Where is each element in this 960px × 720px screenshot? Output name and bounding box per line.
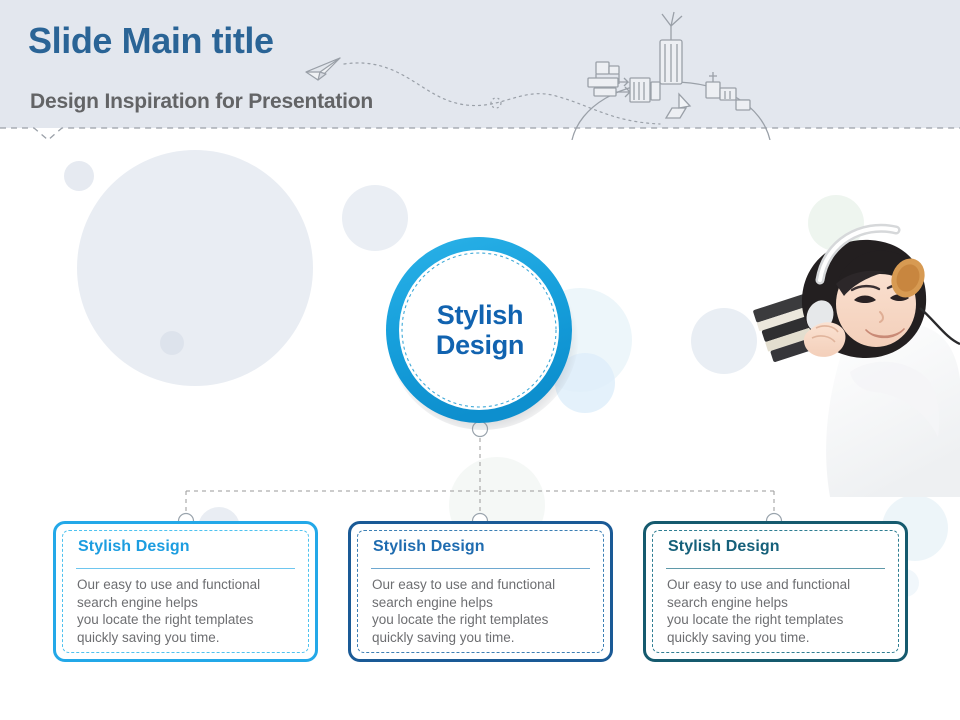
paper-plane-icon <box>306 58 340 80</box>
page-title: Slide Main title <box>28 20 274 62</box>
hub-label-line1: Stylish <box>437 300 523 330</box>
card-divider-3 <box>666 568 885 569</box>
info-card-1[interactable]: Stylish Design Our easy to use and funct… <box>53 521 318 662</box>
hub-label: Stylish Design <box>378 228 582 432</box>
card-divider-2 <box>371 568 590 569</box>
card-divider-1 <box>76 568 295 569</box>
card-body-2: Our easy to use and functional search en… <box>372 576 598 646</box>
city-globe-doodle <box>572 12 770 140</box>
card-body-3: Our easy to use and functional search en… <box>667 576 893 646</box>
card-title-3: Stylish Design <box>668 538 780 556</box>
info-card-2[interactable]: Stylish Design Our easy to use and funct… <box>348 521 613 662</box>
card-body-1: Our easy to use and functional search en… <box>77 576 303 646</box>
hub-label-line2: Design <box>436 330 524 360</box>
slide-header: Slide Main title Design Inspiration for … <box>0 0 960 128</box>
card-title-1: Stylish Design <box>78 538 190 556</box>
card-title-2: Stylish Design <box>373 538 485 556</box>
page-subtitle: Design Inspiration for Presentation <box>30 90 373 114</box>
central-hub[interactable]: Stylish Design <box>378 228 582 432</box>
girl-with-headphones-photo <box>750 212 960 497</box>
info-card-3[interactable]: Stylish Design Our easy to use and funct… <box>643 521 908 662</box>
dotted-flight-path <box>344 63 660 124</box>
slide-canvas: Slide Main title Design Inspiration for … <box>0 0 960 720</box>
